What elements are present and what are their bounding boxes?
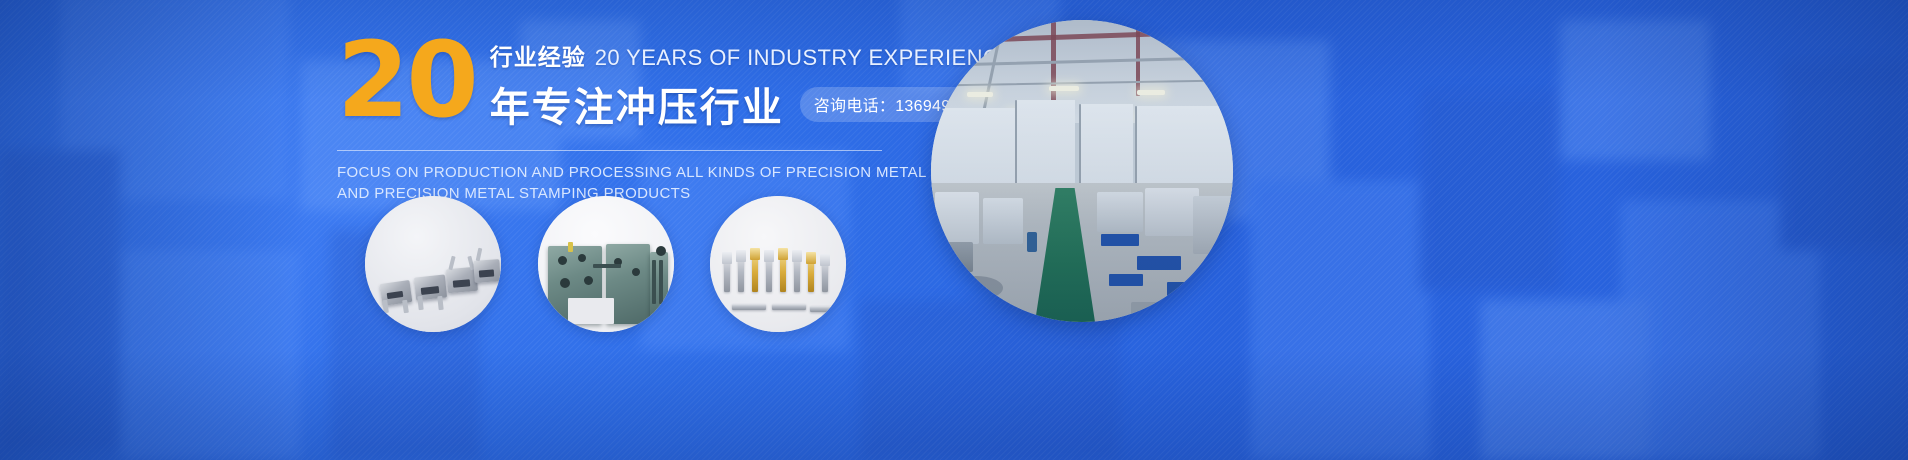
product-circle-pins[interactable] <box>710 196 846 332</box>
product-photo-connectors <box>365 196 501 332</box>
factory-photo-tint <box>931 20 1233 322</box>
product-photo-mold <box>538 196 674 332</box>
stamping-focus-cn: 年专注冲压行业 <box>490 75 784 133</box>
product-circle-connectors[interactable] <box>365 196 501 332</box>
headline-divider <box>337 150 882 151</box>
years-number: 20 <box>337 38 476 123</box>
factory-photo-circle[interactable] <box>931 20 1233 322</box>
product-photo-pins <box>710 196 846 332</box>
headline-block: 20 行业经验 20 YEARS OF INDUSTRY EXPERIENCE … <box>337 34 897 205</box>
promo-banner: 20 行业经验 20 YEARS OF INDUSTRY EXPERIENCE … <box>0 0 1908 460</box>
industry-experience-cn: 行业经验 <box>490 38 586 72</box>
headline-row: 20 行业经验 20 YEARS OF INDUSTRY EXPERIENCE … <box>337 34 897 133</box>
product-circle-mold[interactable] <box>538 196 674 332</box>
subtitle-line-1: FOCUS ON PRODUCTION AND PROCESSING ALL K… <box>337 162 897 183</box>
